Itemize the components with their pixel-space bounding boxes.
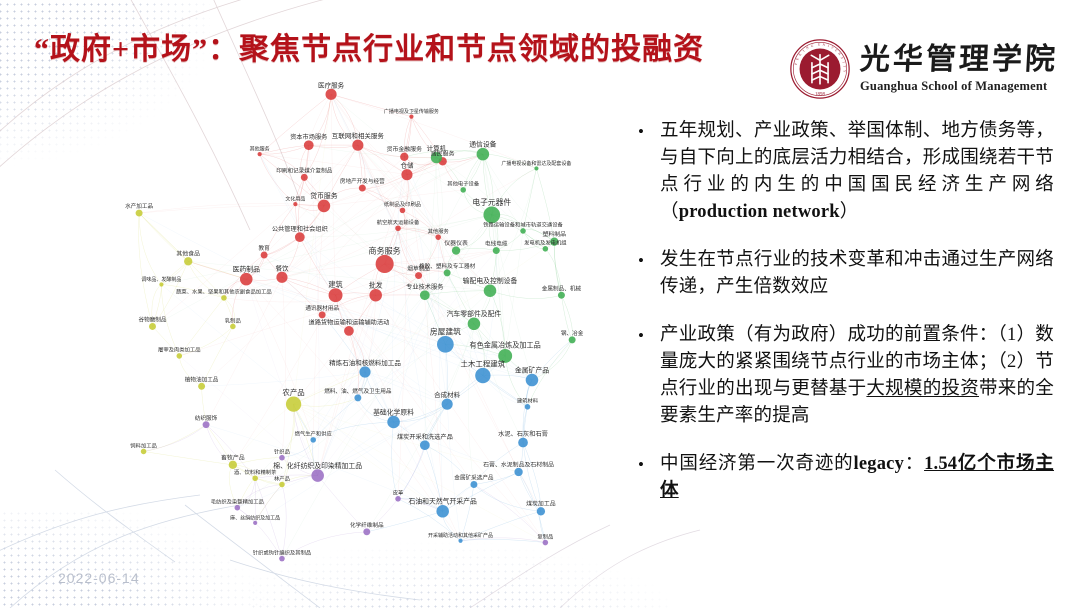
network-node (387, 416, 400, 429)
network-node (286, 396, 301, 411)
network-node (543, 540, 549, 546)
network-edge (246, 279, 313, 440)
network-node (558, 292, 565, 299)
network-node-label: 其他服务 (250, 146, 270, 153)
network-node (484, 284, 497, 297)
network-node-label: 钢、冶金 (561, 329, 584, 337)
network-node-label: 皮革 (393, 489, 404, 497)
network-node (141, 449, 147, 455)
network-node (279, 556, 285, 562)
network-node (400, 208, 406, 214)
network-node-label: 房屋建筑 (430, 327, 461, 337)
network-node (475, 368, 490, 383)
network-node (279, 455, 285, 461)
bullet-text: 产业政策（有为政府）成功的前置条件：（1）数量庞大的紧紧围绕节点行业的市场主体；… (660, 322, 1054, 430)
svg-text:S: S (840, 56, 844, 60)
network-node (253, 521, 257, 525)
network-node-label: 饲料加工品 (130, 441, 157, 449)
network-edge (318, 372, 365, 476)
network-edge (282, 277, 286, 457)
network-node (376, 255, 394, 273)
network-node-label: 纺织服饰 (195, 414, 218, 422)
network-node-label: 铁路运输设备和城市轨道交通设备 (483, 221, 563, 229)
network-node-label: 石油和天然气开采产品 (409, 497, 477, 506)
network-edge (294, 404, 546, 542)
network-node-label: 通信设备 (469, 139, 496, 148)
network-node-label: 资本市场服务 (290, 133, 327, 141)
network-node-label: 批发 (369, 281, 383, 290)
network-node-label: 开采辅助活动和其他采矿产品 (428, 532, 493, 539)
network-node (326, 89, 337, 100)
bullet-marker-icon: • (634, 322, 660, 430)
network-node (409, 115, 413, 119)
network-node (304, 140, 314, 150)
network-node-label: 汽车零部件及配件 (447, 309, 502, 318)
network-node (415, 272, 422, 279)
network-node (229, 461, 237, 469)
bullet-item: •中国经济第一次奇迹的legacy：1.54亿个市场主体 (634, 451, 1054, 505)
network-node (230, 324, 236, 330)
network-node (468, 318, 481, 331)
network-node (518, 438, 528, 448)
network-node-label: 公共管理和社会组织 (272, 225, 328, 233)
network-node (452, 246, 460, 254)
network-node-label: 医疗服务 (318, 80, 345, 89)
bullet-segment: ） (840, 202, 859, 222)
network-node-label: 道路货物运输和运输辅助活动 (309, 319, 390, 327)
network-node (184, 257, 192, 265)
network-node-label: 专业技术服务 (406, 283, 443, 291)
network-edge (206, 277, 282, 424)
network-edge (461, 485, 474, 541)
svg-text:I: I (827, 44, 829, 48)
svg-text:V: V (830, 45, 835, 50)
bullet-segment: ： (904, 454, 924, 474)
network-node-label: 其他电子设备 (447, 180, 480, 188)
network-node (401, 169, 412, 180)
network-node (311, 469, 324, 482)
network-node-label: 计算机 (427, 144, 447, 153)
network-node (198, 383, 205, 390)
network-node (493, 247, 500, 254)
svg-text:N: N (805, 45, 810, 50)
network-node (359, 185, 366, 192)
network-graph-svg: 医疗服务广播电视及卫星传输服务其他服务资本市场服务互联网和相关服务货币金融服务印… (60, 72, 620, 572)
network-node-label: 发电机及发电机组 (524, 239, 567, 247)
network-edge (318, 372, 365, 476)
network-node-label: 医药制品 (233, 264, 260, 273)
network-node (301, 174, 308, 181)
network-node (221, 295, 227, 301)
network-node-label: 建筑材料 (517, 397, 539, 405)
svg-text:U: U (818, 42, 821, 46)
network-node-label: 橡胶、塑料及专工器材 (419, 262, 475, 270)
network-edge (138, 213, 152, 326)
production-network-graph: 医疗服务广播电视及卫星传输服务其他服务资本市场服务互联网和相关服务货币金融服务印… (60, 72, 620, 572)
network-node (252, 475, 258, 481)
svg-text:G: G (810, 43, 814, 48)
network-node (534, 166, 538, 170)
network-node-label: 航空航天运输设备 (377, 218, 420, 226)
network-edge (282, 485, 286, 559)
svg-text:I: I (802, 49, 806, 53)
network-edge (282, 404, 294, 484)
network-node (526, 374, 539, 387)
network-node (420, 290, 430, 300)
network-node (344, 326, 354, 336)
network-node (470, 481, 477, 488)
guanghua-logo: 1898 P E K I N G U N I V E R S I T Y 光华管… (789, 38, 1058, 100)
network-node-label: 蔬菜、水果、坚果和其他农副食品加工品 (176, 288, 272, 296)
network-edge (492, 215, 505, 356)
network-node (483, 207, 500, 224)
network-edge (461, 539, 546, 542)
network-node-label: 广播电视设备和雷达及配套设备 (501, 160, 571, 167)
network-node-label: 货币金融服务 (387, 145, 423, 153)
network-node (136, 210, 143, 217)
network-node (149, 323, 156, 330)
svg-text:E: E (834, 48, 838, 52)
network-node (240, 273, 253, 286)
network-node (420, 440, 430, 450)
network-node-label: 针织或钩针编织及其制品 (253, 548, 311, 556)
network-edge (523, 168, 536, 231)
network-node-label: 畜牧产品 (221, 453, 245, 461)
network-node-label: 电线电缆 (485, 240, 508, 248)
network-node-label: 金属制品、机械 (542, 284, 582, 292)
network-node-label: 针织品 (274, 448, 290, 456)
network-node (395, 496, 401, 502)
network-node (261, 252, 268, 259)
network-node (279, 482, 285, 488)
network-node (437, 336, 454, 353)
bullet-marker-icon: • (634, 247, 660, 301)
network-node-label: 酒、饮料和精制茶 (234, 468, 277, 476)
slide-date: 2022-06-14 (58, 570, 140, 586)
network-node-label: 石膏、水泥制品及石材制品 (483, 460, 554, 468)
bullet-marker-icon: • (634, 451, 660, 505)
network-node (444, 269, 451, 276)
bullet-segment: 中国经济第一次奇迹的 (660, 454, 854, 474)
network-node (177, 353, 183, 359)
network-node (235, 505, 241, 511)
svg-text:E: E (795, 57, 799, 60)
network-node (369, 289, 382, 302)
network-node (354, 394, 361, 401)
network-node (329, 288, 343, 302)
network-node (159, 282, 163, 286)
network-node-label: 精炼石油和核燃料加工品 (329, 358, 401, 367)
network-node (477, 148, 490, 161)
network-edge (309, 145, 358, 147)
network-node-label: 化学纤维制品 (350, 521, 384, 529)
network-node-label: 其他服务 (428, 227, 450, 235)
network-node (442, 399, 453, 410)
network-node-label: 合成材料 (434, 390, 461, 399)
network-node-label: 植物油加工品 (185, 375, 219, 383)
svg-text:I: I (842, 61, 846, 63)
bullet-item: •发生在节点行业的技术变革和冲击通过生产网络传递，产生倍数效应 (634, 247, 1054, 301)
bullet-segment: production network (679, 202, 840, 222)
network-node-label: 土木工程建筑 (461, 358, 506, 368)
page-title: “政府+市场”：聚焦节点行业和节点领域的投融资 (34, 24, 704, 68)
svg-text:1898: 1898 (815, 93, 825, 98)
bullet-segment: 大规模的投资 (866, 379, 979, 399)
network-node (460, 187, 466, 193)
peking-university-seal-icon: 1898 P E K I N G U N I V E R S I T Y (789, 38, 851, 100)
network-node-label: 水产加工品 (125, 202, 153, 210)
network-node-label: 燃气生产和供应 (295, 430, 333, 438)
bullet-text: 中国经济第一次奇迹的legacy：1.54亿个市场主体 (660, 451, 1054, 505)
network-node (276, 272, 287, 283)
network-node-label: 屠宰及肉类加工品 (158, 346, 201, 354)
network-node-label: 商务服务 (369, 245, 401, 255)
network-node-label: 调味品、发酵制品 (141, 276, 181, 283)
bullet-marker-icon: • (634, 118, 660, 226)
svg-text:Y: Y (842, 70, 846, 73)
bullet-segment: 发生在节点行业的技术变革和冲击通过生产网络传递，产生倍数效应 (660, 250, 1054, 297)
network-node-label: 农产品 (282, 387, 304, 397)
network-edge (237, 404, 447, 508)
network-node (359, 366, 370, 377)
network-node-label: 广播电视及卫星传输服务 (384, 108, 439, 115)
svg-text:T: T (842, 65, 846, 67)
network-node-label: 金属矿产品 (515, 365, 549, 374)
network-node (400, 153, 408, 161)
svg-text:R: R (837, 52, 842, 57)
network-node (395, 225, 401, 231)
bullet-text: 五年规划、产业政策、举国体制、地方债务等，与自下向上的底层活力相结合，形成围绕若… (660, 118, 1054, 226)
bullet-text: 发生在节点行业的技术变革和冲击通过生产网络传递，产生倍数效应 (660, 247, 1054, 301)
network-node (435, 234, 441, 240)
svg-text:P: P (794, 62, 798, 65)
network-node (569, 336, 576, 343)
network-node-label: 毛纺织及染整精加工品 (211, 498, 264, 506)
network-node (436, 505, 449, 518)
network-node (363, 528, 370, 535)
network-node-label: 谷物磨制品 (138, 316, 166, 324)
network-edge (492, 168, 537, 214)
network-node-label: 仪器仪表 (444, 239, 468, 247)
network-node-label: 贷币服务 (310, 191, 337, 200)
network-node-label: 文化用品 (285, 196, 305, 203)
network-node (458, 539, 462, 543)
slide: “政府+市场”：聚焦节点行业和节点领域的投融资 1898 P (0, 0, 1080, 608)
network-node (319, 311, 326, 318)
svg-text:K: K (798, 52, 803, 57)
bullet-list: •五年规划、产业政策、举国体制、地方债务等，与自下向上的底层活力相结合，形成围绕… (634, 118, 1054, 526)
network-node-label: 通讯器材用品 (305, 304, 339, 312)
network-node-label: 印刷和记录媒介复制品 (276, 166, 332, 174)
network-node-label: 塑料制品 (542, 230, 566, 238)
bullet-item: •五年规划、产业政策、举国体制、地方债务等，与自下向上的底层活力相结合，形成围绕… (634, 118, 1054, 226)
network-node-label: 仓储 (400, 161, 414, 170)
network-node (525, 404, 531, 410)
network-node (537, 507, 545, 515)
network-node-label: 燃料、油、燃气及卫生用品 (324, 387, 392, 395)
network-node-label: 有色金属冶炼及加工品 (470, 341, 541, 350)
network-node-label: 金属矿采选产品 (454, 474, 494, 482)
network-node-label: 水泥、石灰和石膏 (498, 430, 548, 438)
network-node (318, 200, 331, 213)
network-node-label: 房地产开发与经营 (340, 177, 385, 185)
network-edge (358, 145, 519, 472)
network-node (352, 140, 363, 151)
logo-name-en: Guanghua School of Management (860, 80, 1047, 93)
network-edge (202, 175, 407, 387)
network-node (543, 246, 549, 252)
network-node (258, 152, 262, 156)
network-node-label: 煤炭加工品 (526, 500, 556, 508)
network-node-label: 乳制品 (225, 316, 241, 324)
network-node (310, 437, 316, 443)
network-node-label: 复制品 (537, 532, 553, 540)
bullet-segment: legacy (854, 454, 905, 474)
network-node-label: 麻、丝绢纺织及加工品 (230, 514, 280, 521)
svg-text:N: N (822, 43, 826, 47)
network-node-label: 其他食品 (176, 250, 200, 258)
network-node-label: 纸制品及印刷品 (384, 200, 421, 208)
network-node (293, 202, 297, 206)
network-node-label: 建筑 (328, 280, 342, 289)
network-node-label: 教育 (258, 244, 270, 252)
network-node (295, 232, 305, 242)
network-node-label: 基础化学原料 (373, 407, 414, 416)
network-node-label: 棉、化纤纺织及印染精加工品 (273, 461, 362, 470)
logo-name-cn: 光华管理学院 (859, 45, 1059, 75)
network-node-label: 餐饮 (275, 263, 289, 272)
bullet-item: •产业政策（有为政府）成功的前置条件：（1）数量庞大的紧紧围绕节点行业的市场主体… (634, 322, 1054, 430)
network-node-label: 输配电及控制设备 (463, 276, 518, 285)
network-node (514, 468, 522, 476)
network-node-label: 互联网和相关服务 (332, 131, 385, 140)
network-node-label: 电子元器件 (472, 197, 511, 207)
network-edge (536, 168, 554, 241)
network-node (203, 421, 210, 428)
network-node (520, 228, 526, 234)
network-node-label: 煤炭开采和洗选产品 (397, 433, 453, 441)
network-edge (144, 451, 233, 464)
